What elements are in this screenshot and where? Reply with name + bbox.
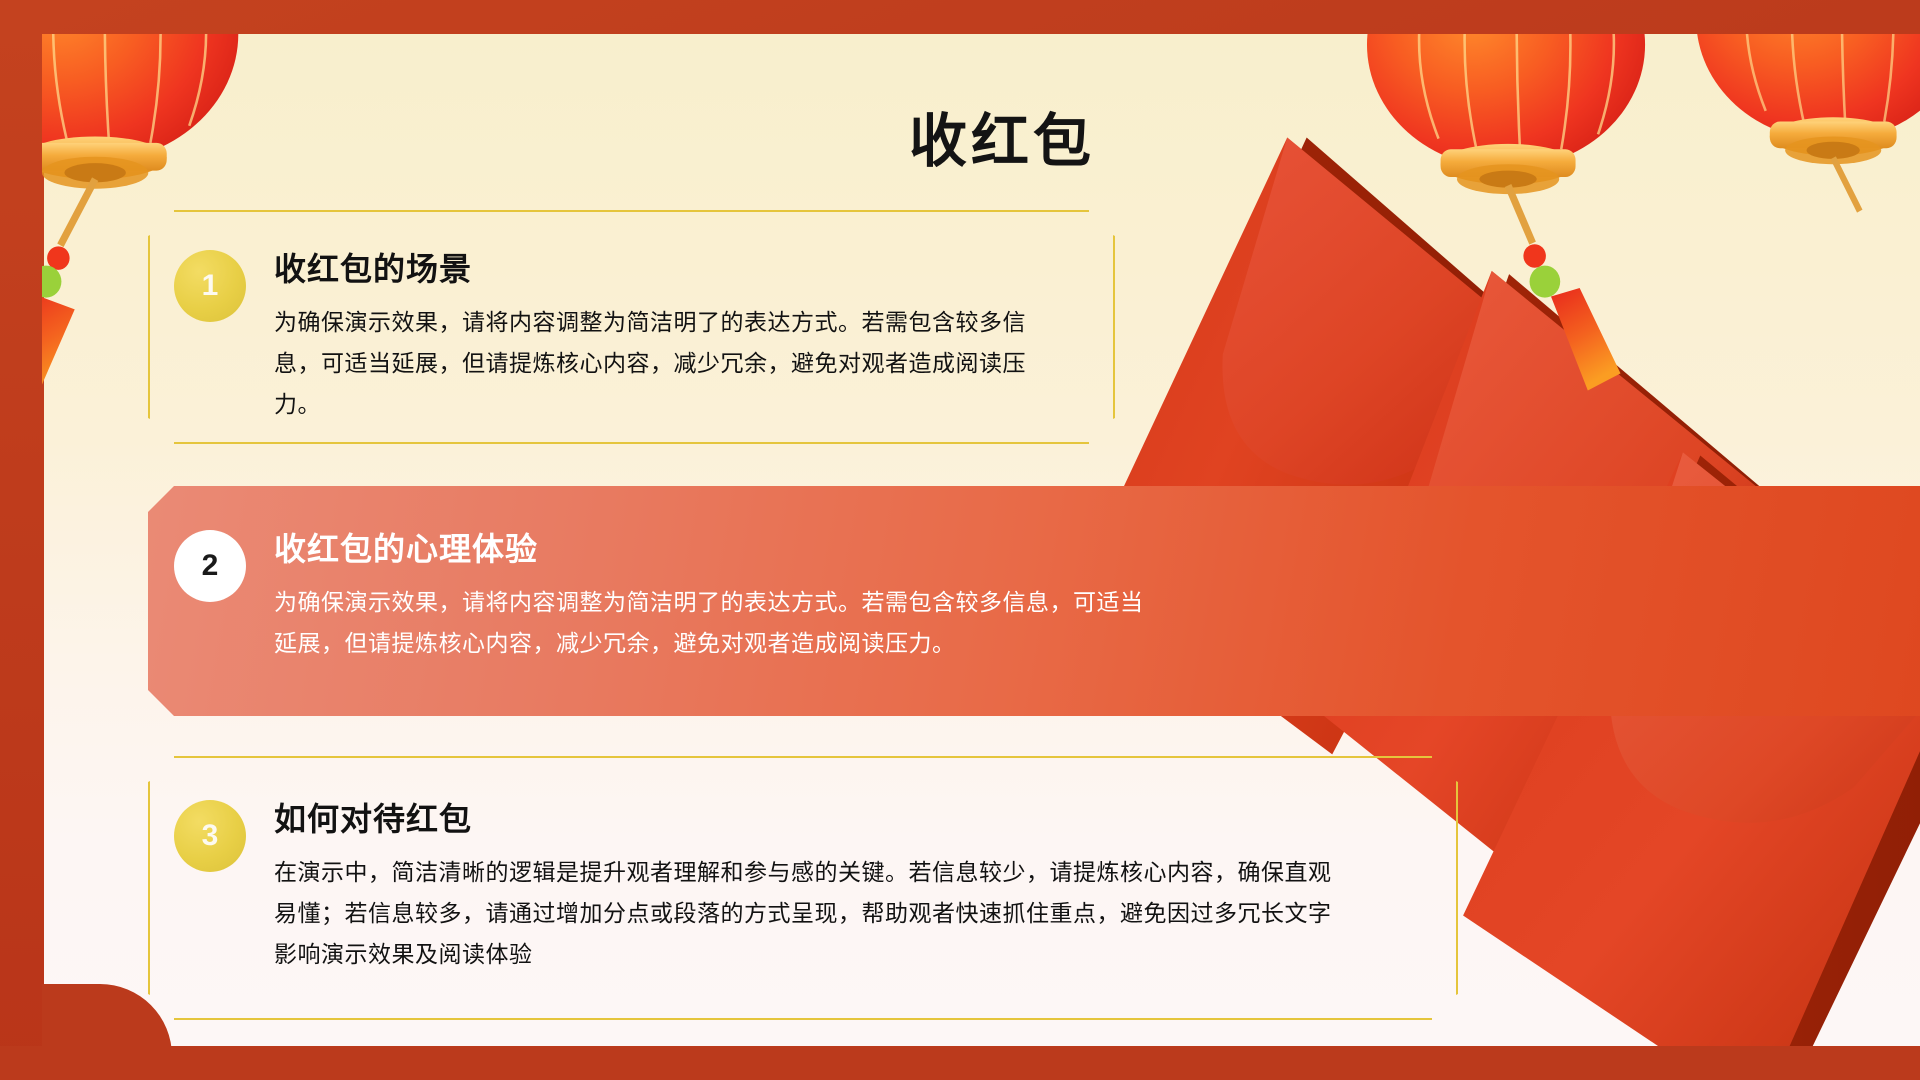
section-1-body: 为确保演示效果，请将内容调整为简洁明了的表达方式。若需包含较多信息，可适当延展，… xyxy=(274,302,1064,425)
frame-left-bar xyxy=(0,0,44,1080)
frame-bottom-bar xyxy=(0,1046,1920,1080)
slide-root: 收红包 1 收红包的场景 为确保演示效果，请将内容调整为简洁明了的表达方式。若需… xyxy=(0,0,1920,1080)
section-3-body: 在演示中，简洁清晰的逻辑是提升观者理解和参与感的关键。若信息较少，请提炼核心内容… xyxy=(274,852,1334,975)
section-3-heading: 如何对待红包 xyxy=(274,794,472,840)
section-2-body: 为确保演示效果，请将内容调整为简洁明了的表达方式。若需包含较多信息，可适当延展，… xyxy=(274,582,1154,664)
section-1-number-badge: 1 xyxy=(174,250,246,322)
section-1-heading: 收红包的场景 xyxy=(274,244,472,290)
lantern-top-right-a xyxy=(1367,34,1645,390)
content-card: 收红包 1 收红包的场景 为确保演示效果，请将内容调整为简洁明了的表达方式。若需… xyxy=(42,34,1920,1046)
section-2-number-badge: 2 xyxy=(174,530,246,602)
section-3-number-badge: 3 xyxy=(174,800,246,872)
section-2-heading: 收红包的心理体验 xyxy=(274,524,538,570)
page-title: 收红包 xyxy=(42,94,1920,178)
